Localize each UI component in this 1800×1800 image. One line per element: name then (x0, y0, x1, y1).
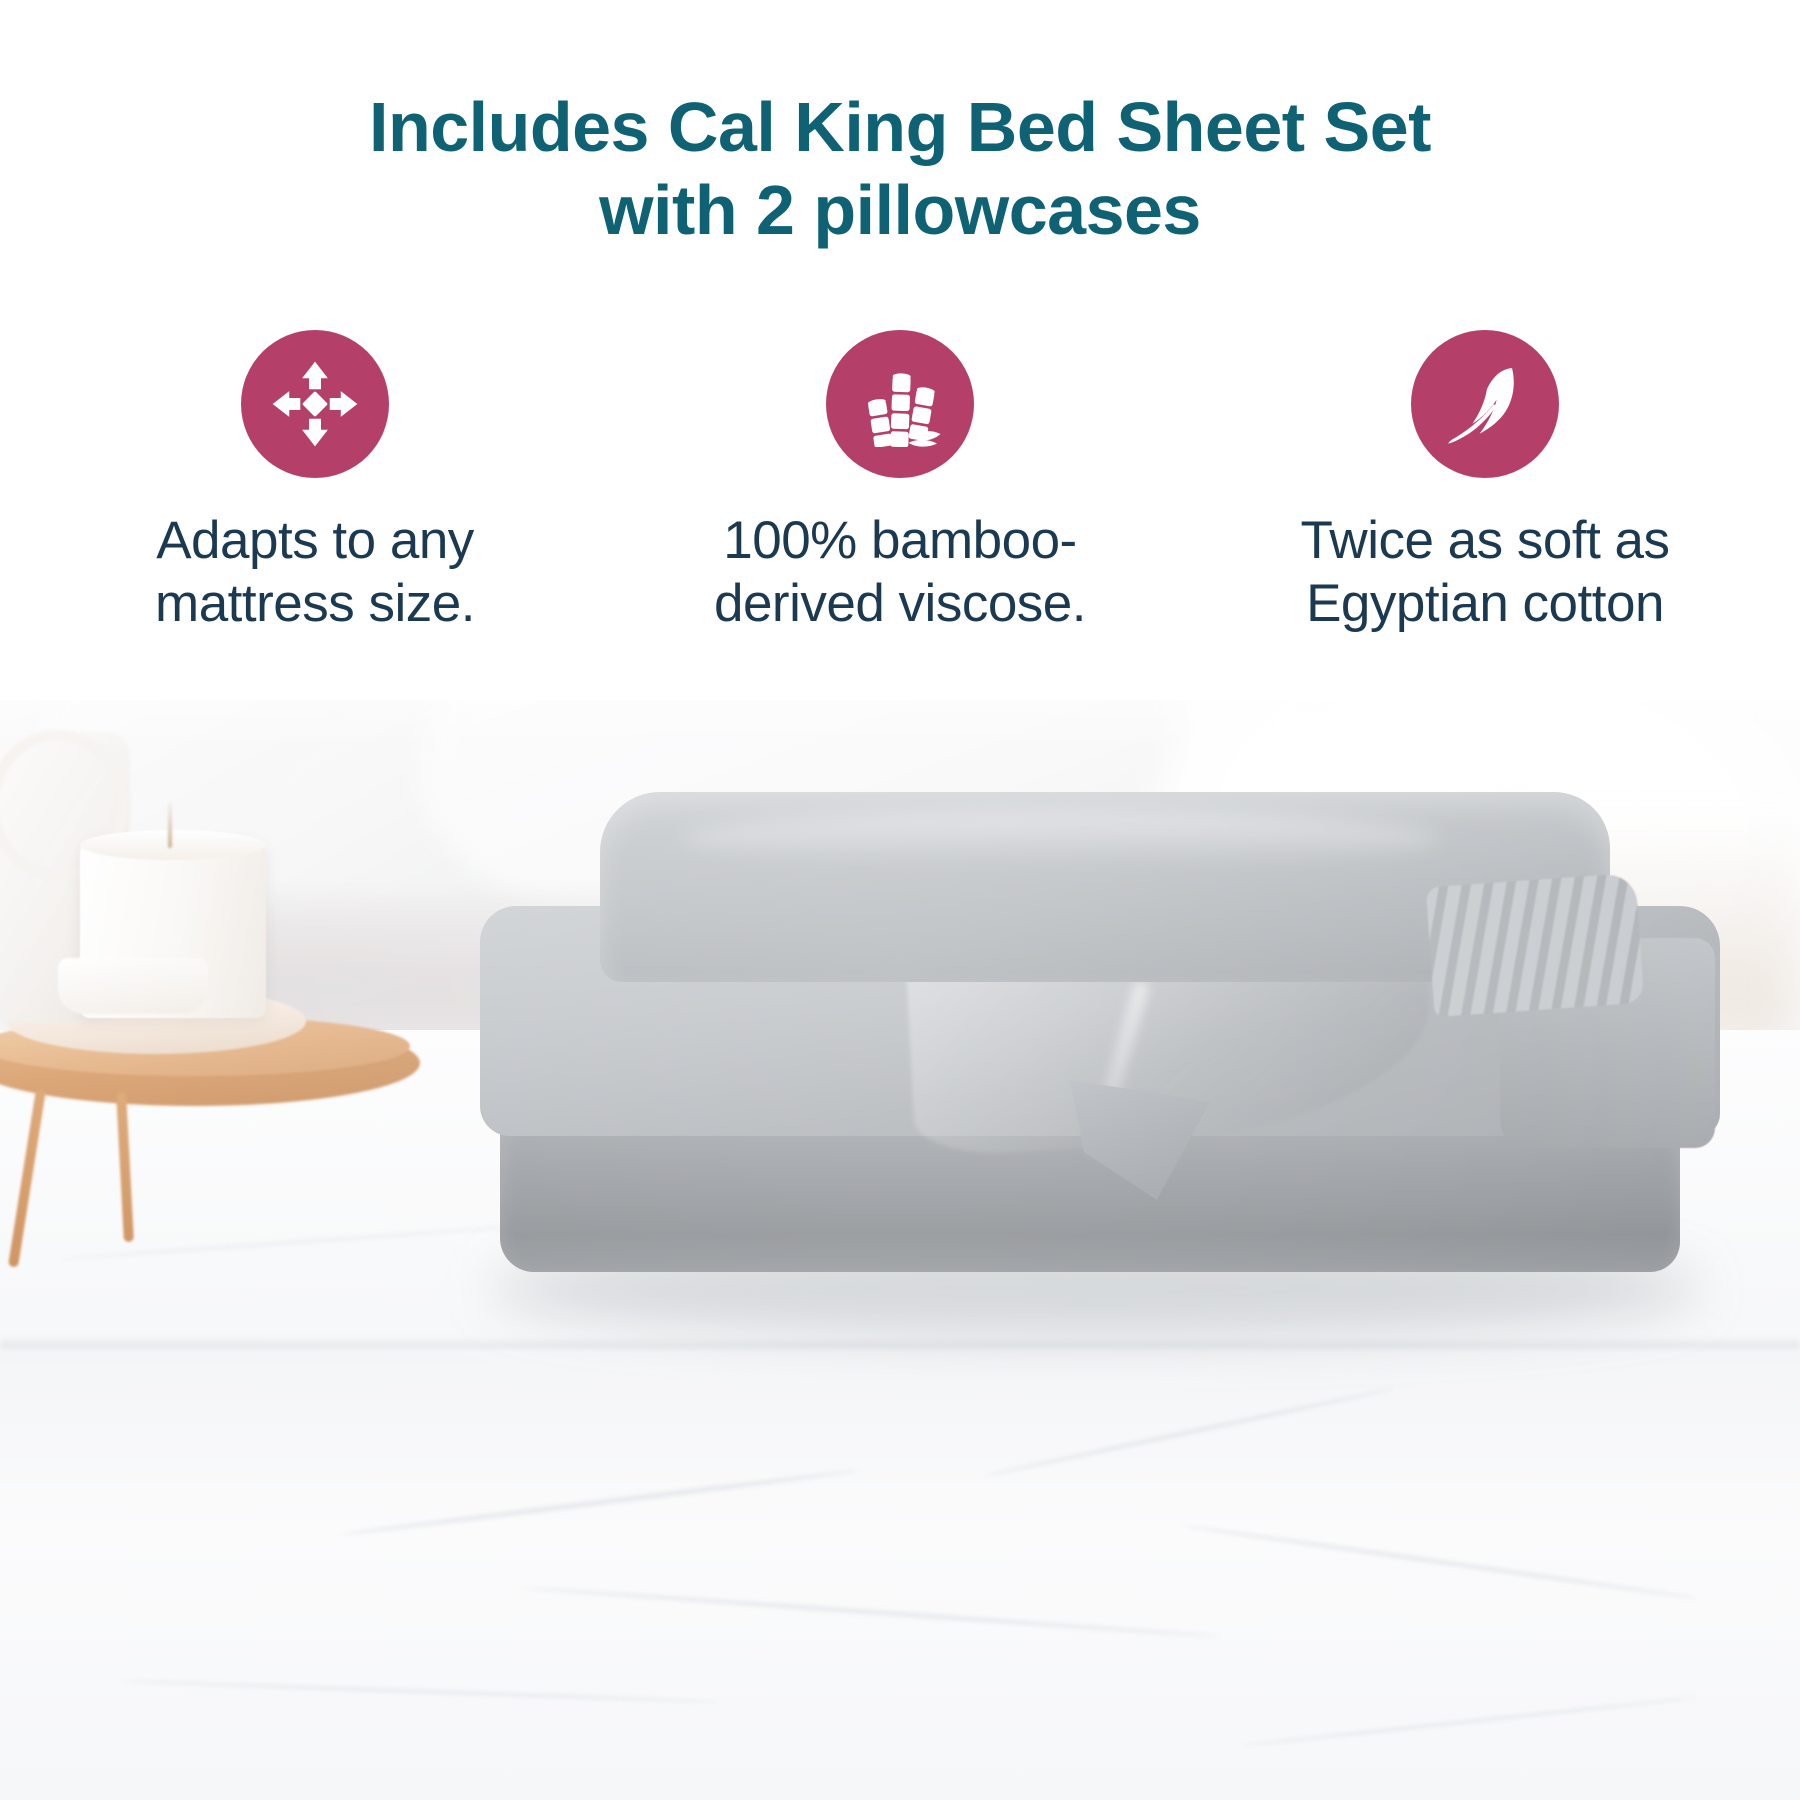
small-cup (58, 958, 208, 1014)
feature-list: Adapts to any mattress size. (55, 330, 1745, 635)
feature-badge-2 (826, 330, 974, 478)
side-table-leg (8, 1088, 46, 1267)
headline-line-2: with 2 pillowcases (0, 169, 1800, 252)
side-table-vignette (0, 720, 440, 1280)
product-photo-scene (0, 600, 1800, 1800)
feature-caption-3: Twice as soft as Egyptian cotton (1300, 510, 1669, 635)
page-title: Includes Cal King Bed Sheet Set with 2 p… (0, 86, 1800, 251)
candle-wick (168, 802, 172, 848)
feature-softness: Twice as soft as Egyptian cotton (1225, 330, 1745, 635)
four-way-arrows-icon (269, 358, 361, 450)
feature-badge-1 (241, 330, 389, 478)
info-panel: Includes Cal King Bed Sheet Set with 2 p… (0, 0, 1800, 700)
feature-caption-2-line-1: 100% bamboo- (714, 510, 1086, 573)
feature-caption-1-line-2: mattress size. (155, 573, 475, 636)
headline-line-1: Includes Cal King Bed Sheet Set (0, 86, 1800, 169)
feature-caption-2: 100% bamboo- derived viscose. (714, 510, 1086, 635)
feature-caption-3-line-1: Twice as soft as (1300, 510, 1669, 573)
feature-caption-1: Adapts to any mattress size. (155, 510, 475, 635)
feature-caption-1-line-1: Adapts to any (155, 510, 475, 573)
top-highlight (680, 810, 1440, 866)
candle-rim (80, 830, 266, 860)
feature-caption-2-line-2: derived viscose. (714, 573, 1086, 636)
side-table-leg (116, 1092, 134, 1242)
bamboo-stalks-icon (857, 361, 943, 447)
feature-adapts-to-mattress: Adapts to any mattress size. (55, 330, 575, 635)
feature-caption-3-line-2: Egyptian cotton (1300, 573, 1669, 636)
feature-badge-3 (1411, 330, 1559, 478)
feature-bamboo-viscose: 100% bamboo- derived viscose. (640, 330, 1160, 635)
folded-edge-ruffle (1426, 873, 1645, 1017)
feather-icon (1440, 359, 1530, 449)
product-infographic: Includes Cal King Bed Sheet Set with 2 p… (0, 0, 1800, 1800)
folded-sheet-stack (470, 788, 1730, 1368)
